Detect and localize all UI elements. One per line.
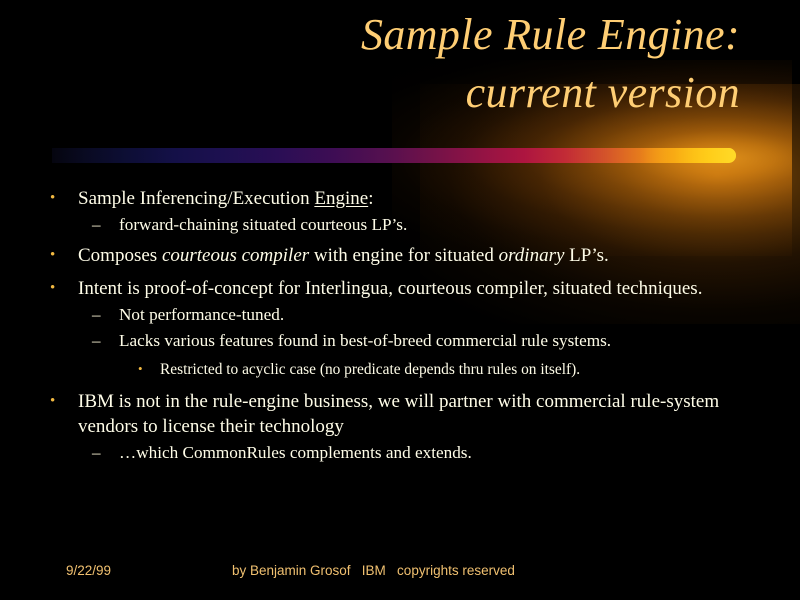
bullet-text: Lacks various features found in best-of-… xyxy=(119,329,758,353)
bullet-item-level-2: –…which CommonRules complements and exte… xyxy=(92,441,758,466)
plain-text: Intent is proof-of-concept for Interling… xyxy=(78,278,702,299)
bullet-text: IBM is not in the rule-engine business, … xyxy=(78,389,758,441)
bullet-text: Restricted to acyclic case (no predicate… xyxy=(160,359,758,380)
bullet-marker-icon: – xyxy=(92,329,119,354)
bullet-item-level-1: •Composes courteous compiler with engine… xyxy=(46,243,758,269)
bullet-text: Not performance-tuned. xyxy=(119,303,758,327)
bullet-item-level-2: –forward-chaining situated courteous LP’… xyxy=(92,213,758,238)
slide-title: Sample Rule Engine: current version xyxy=(60,6,740,122)
plain-text: Not performance-tuned. xyxy=(119,305,284,324)
emphasis-text: courteous compiler xyxy=(162,245,309,266)
plain-text: forward-chaining situated courteous LP’s… xyxy=(119,215,407,234)
plain-text: Sample Inferencing/Execution xyxy=(78,188,314,209)
slide-footer: 9/22/99 by Benjamin Grosof IBM copyright… xyxy=(0,563,800,587)
slide-body-bullet-list: •Sample Inferencing/Execution Engine:–fo… xyxy=(46,186,758,467)
bullet-item-level-1: •Intent is proof-of-concept for Interlin… xyxy=(46,276,758,302)
bullet-item-level-1: •Sample Inferencing/Execution Engine: xyxy=(46,186,758,212)
presentation-slide: Sample Rule Engine: current version •Sam… xyxy=(0,0,800,600)
underlined-text: Engine xyxy=(314,188,368,209)
bullet-text: Composes courteous compiler with engine … xyxy=(78,243,758,269)
bullet-text: …which CommonRules complements and exten… xyxy=(119,441,758,465)
plain-text: LP’s. xyxy=(564,245,608,266)
bullet-text: Intent is proof-of-concept for Interling… xyxy=(78,276,758,302)
bullet-item-level-2: –Not performance-tuned. xyxy=(92,303,758,328)
bullet-item-level-2: –Lacks various features found in best-of… xyxy=(92,329,758,354)
plain-text: Lacks various features found in best-of-… xyxy=(119,331,611,350)
bullet-item-level-3: •Restricted to acyclic case (no predicat… xyxy=(138,359,758,380)
bullet-marker-icon: • xyxy=(46,243,78,267)
plain-text: Restricted to acyclic case (no predicate… xyxy=(160,361,580,378)
bullet-item-level-1: •IBM is not in the rule-engine business,… xyxy=(46,389,758,441)
plain-text: Composes xyxy=(78,245,162,266)
plain-text: …which CommonRules complements and exten… xyxy=(119,443,472,462)
gradient-accent-bar xyxy=(52,148,736,163)
bullet-text: forward-chaining situated courteous LP’s… xyxy=(119,213,758,237)
bullet-marker-icon: – xyxy=(92,441,119,466)
plain-text: with engine for situated xyxy=(309,245,498,266)
bullet-marker-icon: • xyxy=(138,359,160,380)
footer-date: 9/22/99 xyxy=(66,563,111,578)
bullet-marker-icon: – xyxy=(92,303,119,328)
footer-credit: by Benjamin Grosof IBM copyrights reserv… xyxy=(232,563,515,578)
bullet-marker-icon: • xyxy=(46,186,78,210)
gradient-accent-bar-tip xyxy=(640,148,736,163)
bullet-text: Sample Inferencing/Execution Engine: xyxy=(78,186,758,212)
plain-text: : xyxy=(368,188,373,209)
bullet-marker-icon: • xyxy=(46,389,78,413)
emphasis-text: ordinary xyxy=(499,245,565,266)
bullet-marker-icon: • xyxy=(46,276,78,300)
plain-text: IBM is not in the rule-engine business, … xyxy=(78,391,719,438)
bullet-marker-icon: – xyxy=(92,213,119,238)
